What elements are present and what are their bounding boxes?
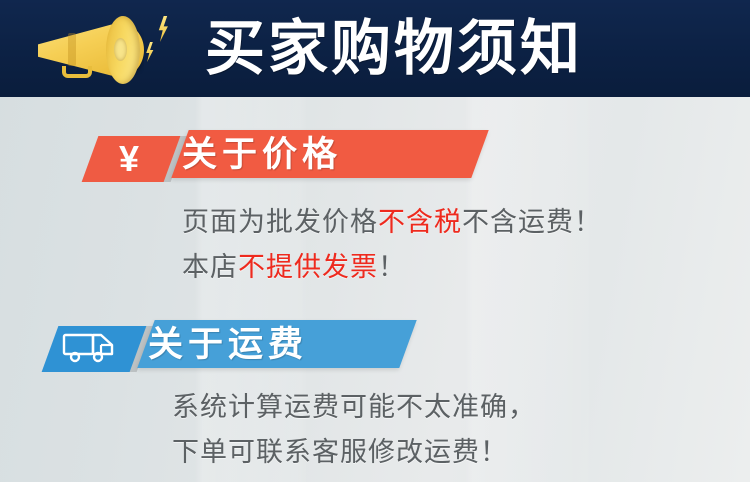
header-banner: 买家购物须知 [0, 0, 750, 97]
shipping-section-banner: 关于运费 [42, 320, 372, 368]
price-line-2: 本店不提供发票！ [182, 245, 602, 290]
promo-banner-page: 买家购物须知 ¥ 关于价格 页面为批发价格不含税不含运费！ 本店不提供发票！ 关… [0, 0, 750, 482]
megaphone-handle [62, 66, 92, 78]
price-section-banner: ¥ 关于价格 [82, 130, 412, 178]
shipping-description: 系统计算运费可能不太准确， 下单可联系客服修改运费！ [172, 385, 536, 475]
megaphone-inner [114, 38, 127, 61]
price-line-2-seg-1: 本店 [182, 252, 238, 282]
lightning-bolt-icon [156, 16, 170, 42]
price-line-1-seg-2: 不含税 [378, 207, 462, 237]
truck-icon [62, 332, 118, 364]
price-line-2-seg-3: ！ [378, 252, 406, 282]
shipping-line-1: 系统计算运费可能不太准确， [172, 385, 536, 430]
megaphone-band [68, 33, 76, 66]
megaphone-icon [28, 8, 178, 92]
price-line-1-seg-3: 不含运费！ [462, 207, 602, 237]
shipping-banner-label: 关于运费 [148, 322, 308, 370]
price-description: 页面为批发价格不含税不含运费！ 本店不提供发票！ [182, 200, 602, 290]
price-line-1-seg-1: 页面为批发价格 [182, 207, 378, 237]
price-line-1: 页面为批发价格不含税不含运费！ [182, 200, 602, 245]
lightning-bolt-icon [144, 42, 155, 62]
yen-icon: ¥ [106, 139, 152, 179]
price-line-2-seg-2: 不提供发票 [238, 252, 378, 282]
shipping-line-2: 下单可联系客服修改运费！ [172, 430, 536, 475]
price-banner-label: 关于价格 [182, 132, 342, 180]
page-title: 买家购物须知 [205, 9, 583, 89]
